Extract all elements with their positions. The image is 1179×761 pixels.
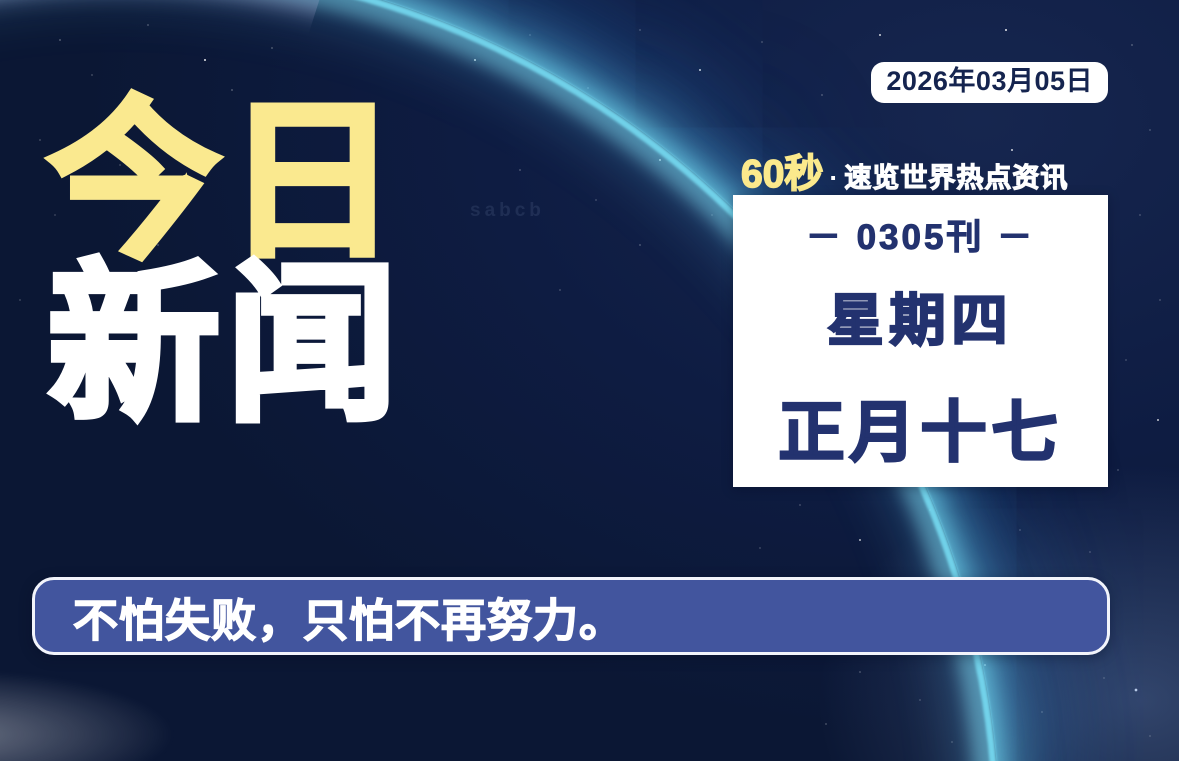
issue-number: － 0305刊 －: [806, 209, 1035, 260]
tagline: 60秒 · 速览世界热点资讯: [741, 143, 1068, 199]
lunar-date-label: 正月十七: [779, 379, 1063, 475]
tagline-separator-dot: ·: [825, 163, 842, 194]
date-badge: 2026年03月05日: [871, 62, 1108, 103]
title-line-today: 今日: [48, 98, 404, 267]
title-line-news: 新闻: [48, 261, 404, 430]
date-info-card: － 0305刊 － 星期四 正月十七: [733, 195, 1108, 487]
quote-banner: 不怕失败，只怕不再努力。: [32, 577, 1110, 655]
quote-text: 不怕失败，只怕不再努力。: [73, 584, 625, 649]
tagline-duration: 60秒: [741, 143, 823, 199]
weekday-label: 星期四: [828, 276, 1014, 357]
background-watermark: sabcb: [470, 200, 545, 222]
news-poster: sabcb 今日 新闻 2026年03月05日 60秒 · 速览世界热点资讯 －…: [0, 0, 1179, 761]
tagline-description: 速览世界热点资讯: [844, 156, 1068, 195]
poster-title: 今日 新闻: [48, 98, 404, 429]
